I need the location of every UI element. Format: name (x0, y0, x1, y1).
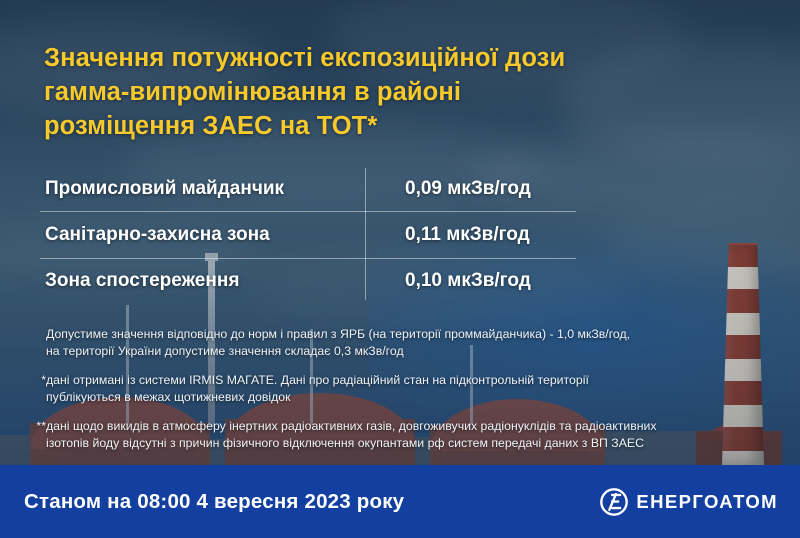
footnote-text: Допустиме значення відповідно до норм і … (46, 326, 630, 361)
footnote-text: дані отримані із системи IRMIS МАГАТЕ. Д… (46, 372, 589, 407)
footnote-marker: * (20, 372, 46, 407)
footnote-marker (20, 326, 46, 361)
timestamp-label: Станом на 08:00 4 вересня 2023 року (24, 490, 404, 514)
footnote-marker: ** (20, 418, 46, 453)
footnote-text: дані щодо викидів в атмосферу інертних р… (46, 418, 657, 453)
brand-wordmark: ЕНЕРГОАТОМ (636, 491, 778, 513)
dose-value: 0,09 мкЗв/год (365, 178, 531, 200)
footnote-emissions: ** дані щодо викидів в атмосферу інертни… (20, 418, 782, 453)
table-row: Зона спостереження 0,10 мкЗв/год (40, 258, 576, 304)
zone-label: Зона спостереження (40, 270, 365, 292)
infographic-card: Значення потужності експозиційної дози г… (0, 0, 800, 538)
energoatom-logo: ЕНЕРГОАТОМ (599, 487, 778, 517)
zone-label: Промисловий майданчик (40, 178, 365, 200)
dose-value: 0,11 мкЗв/год (365, 224, 530, 246)
footnotes: Допустиме значення відповідно до норм і … (20, 326, 782, 464)
footnote-source: * дані отримані із системи IRMIS МАГАТЕ.… (20, 372, 782, 407)
energoatom-emblem-icon (599, 487, 629, 517)
table-row: Санітарно-захисна зона 0,11 мкЗв/год (40, 211, 576, 257)
dose-value: 0,10 мкЗв/год (365, 270, 531, 292)
content-layer: Значення потужності експозиційної дози г… (0, 0, 800, 538)
zone-label: Санітарно-захисна зона (40, 224, 365, 246)
footer-bar: Станом на 08:00 4 вересня 2023 року ЕНЕР… (0, 465, 800, 538)
table-row: Промисловий майданчик 0,09 мкЗв/год (40, 166, 576, 211)
measurements-table: Промисловий майданчик 0,09 мкЗв/год Сані… (40, 166, 576, 302)
page-title: Значення потужності експозиційної дози г… (44, 42, 734, 144)
footnote-limit: Допустиме значення відповідно до норм і … (20, 326, 782, 361)
